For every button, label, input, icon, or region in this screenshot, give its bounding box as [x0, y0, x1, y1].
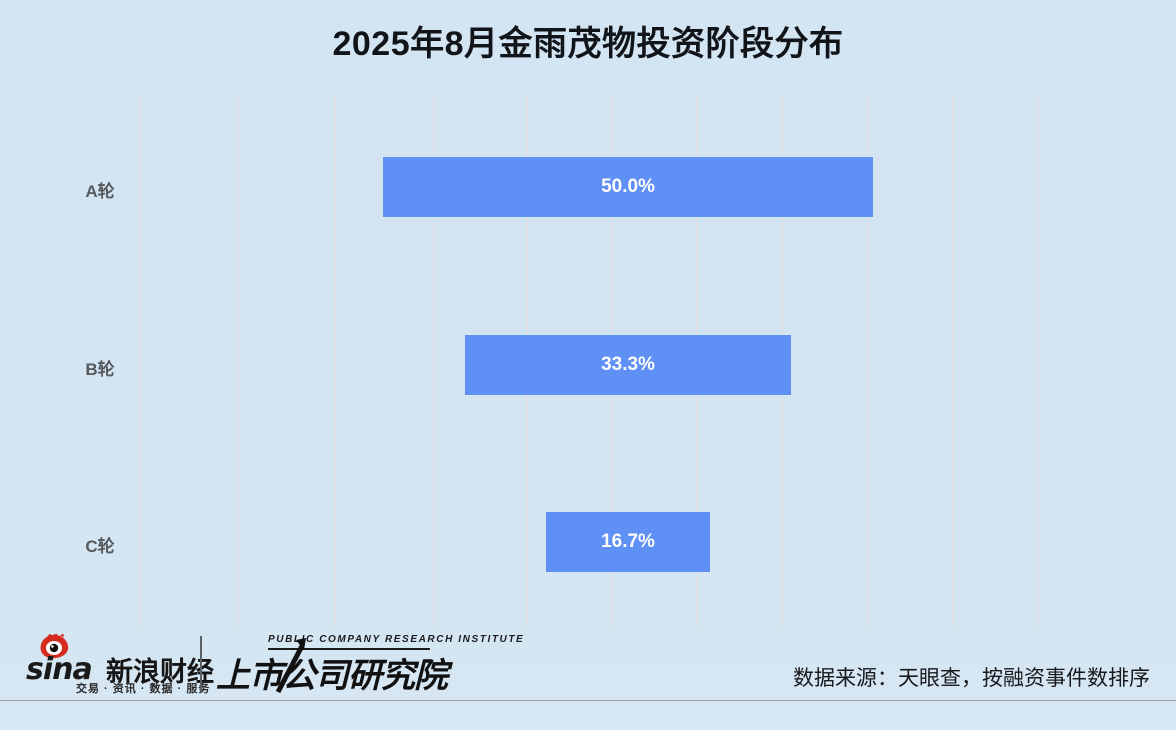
source-note: 数据来源：天眼查，按融资事件数排序 — [793, 662, 1150, 692]
sina-tagline: 交易 · 资讯 · 数据 · 服务 — [76, 680, 210, 696]
bar-row: A轮 50.0% — [0, 157, 1176, 217]
axis-label-category-2: C轮 — [20, 532, 180, 557]
bar-value-label-2: 16.7% — [546, 512, 710, 572]
footer-divider — [0, 700, 1176, 701]
logo-divider — [200, 636, 202, 692]
institute-name-cn: 上市公司研究院 — [216, 648, 447, 697]
plot-area: A轮 50.0% B轮 33.3% C轮 16.7% — [0, 95, 1176, 628]
footer: sina 新浪财经 交易 · 资讯 · 数据 · 服务 PUBLIC COMPA… — [0, 628, 1176, 730]
institute-logo: PUBLIC COMPANY RESEARCH INSTITUTE 上市公司研究… — [216, 632, 436, 696]
chart-container: 2025年8月金雨茂物投资阶段分布 A轮 50.0% B轮 33.3% C轮 — [0, 0, 1176, 730]
axis-label-category-1: B轮 — [20, 355, 180, 380]
bar-row: B轮 33.3% — [0, 335, 1176, 395]
bar-row: C轮 16.7% — [0, 512, 1176, 572]
bar-value-label-1: 33.3% — [465, 335, 791, 395]
axis-label-category-0: A轮 — [20, 177, 180, 202]
sina-finance-logo: sina 新浪财经 交易 · 资讯 · 数据 · 服务 — [26, 634, 204, 696]
chart-title: 2025年8月金雨茂物投资阶段分布 — [0, 0, 1176, 88]
bar-value-label-0: 50.0% — [383, 157, 873, 217]
